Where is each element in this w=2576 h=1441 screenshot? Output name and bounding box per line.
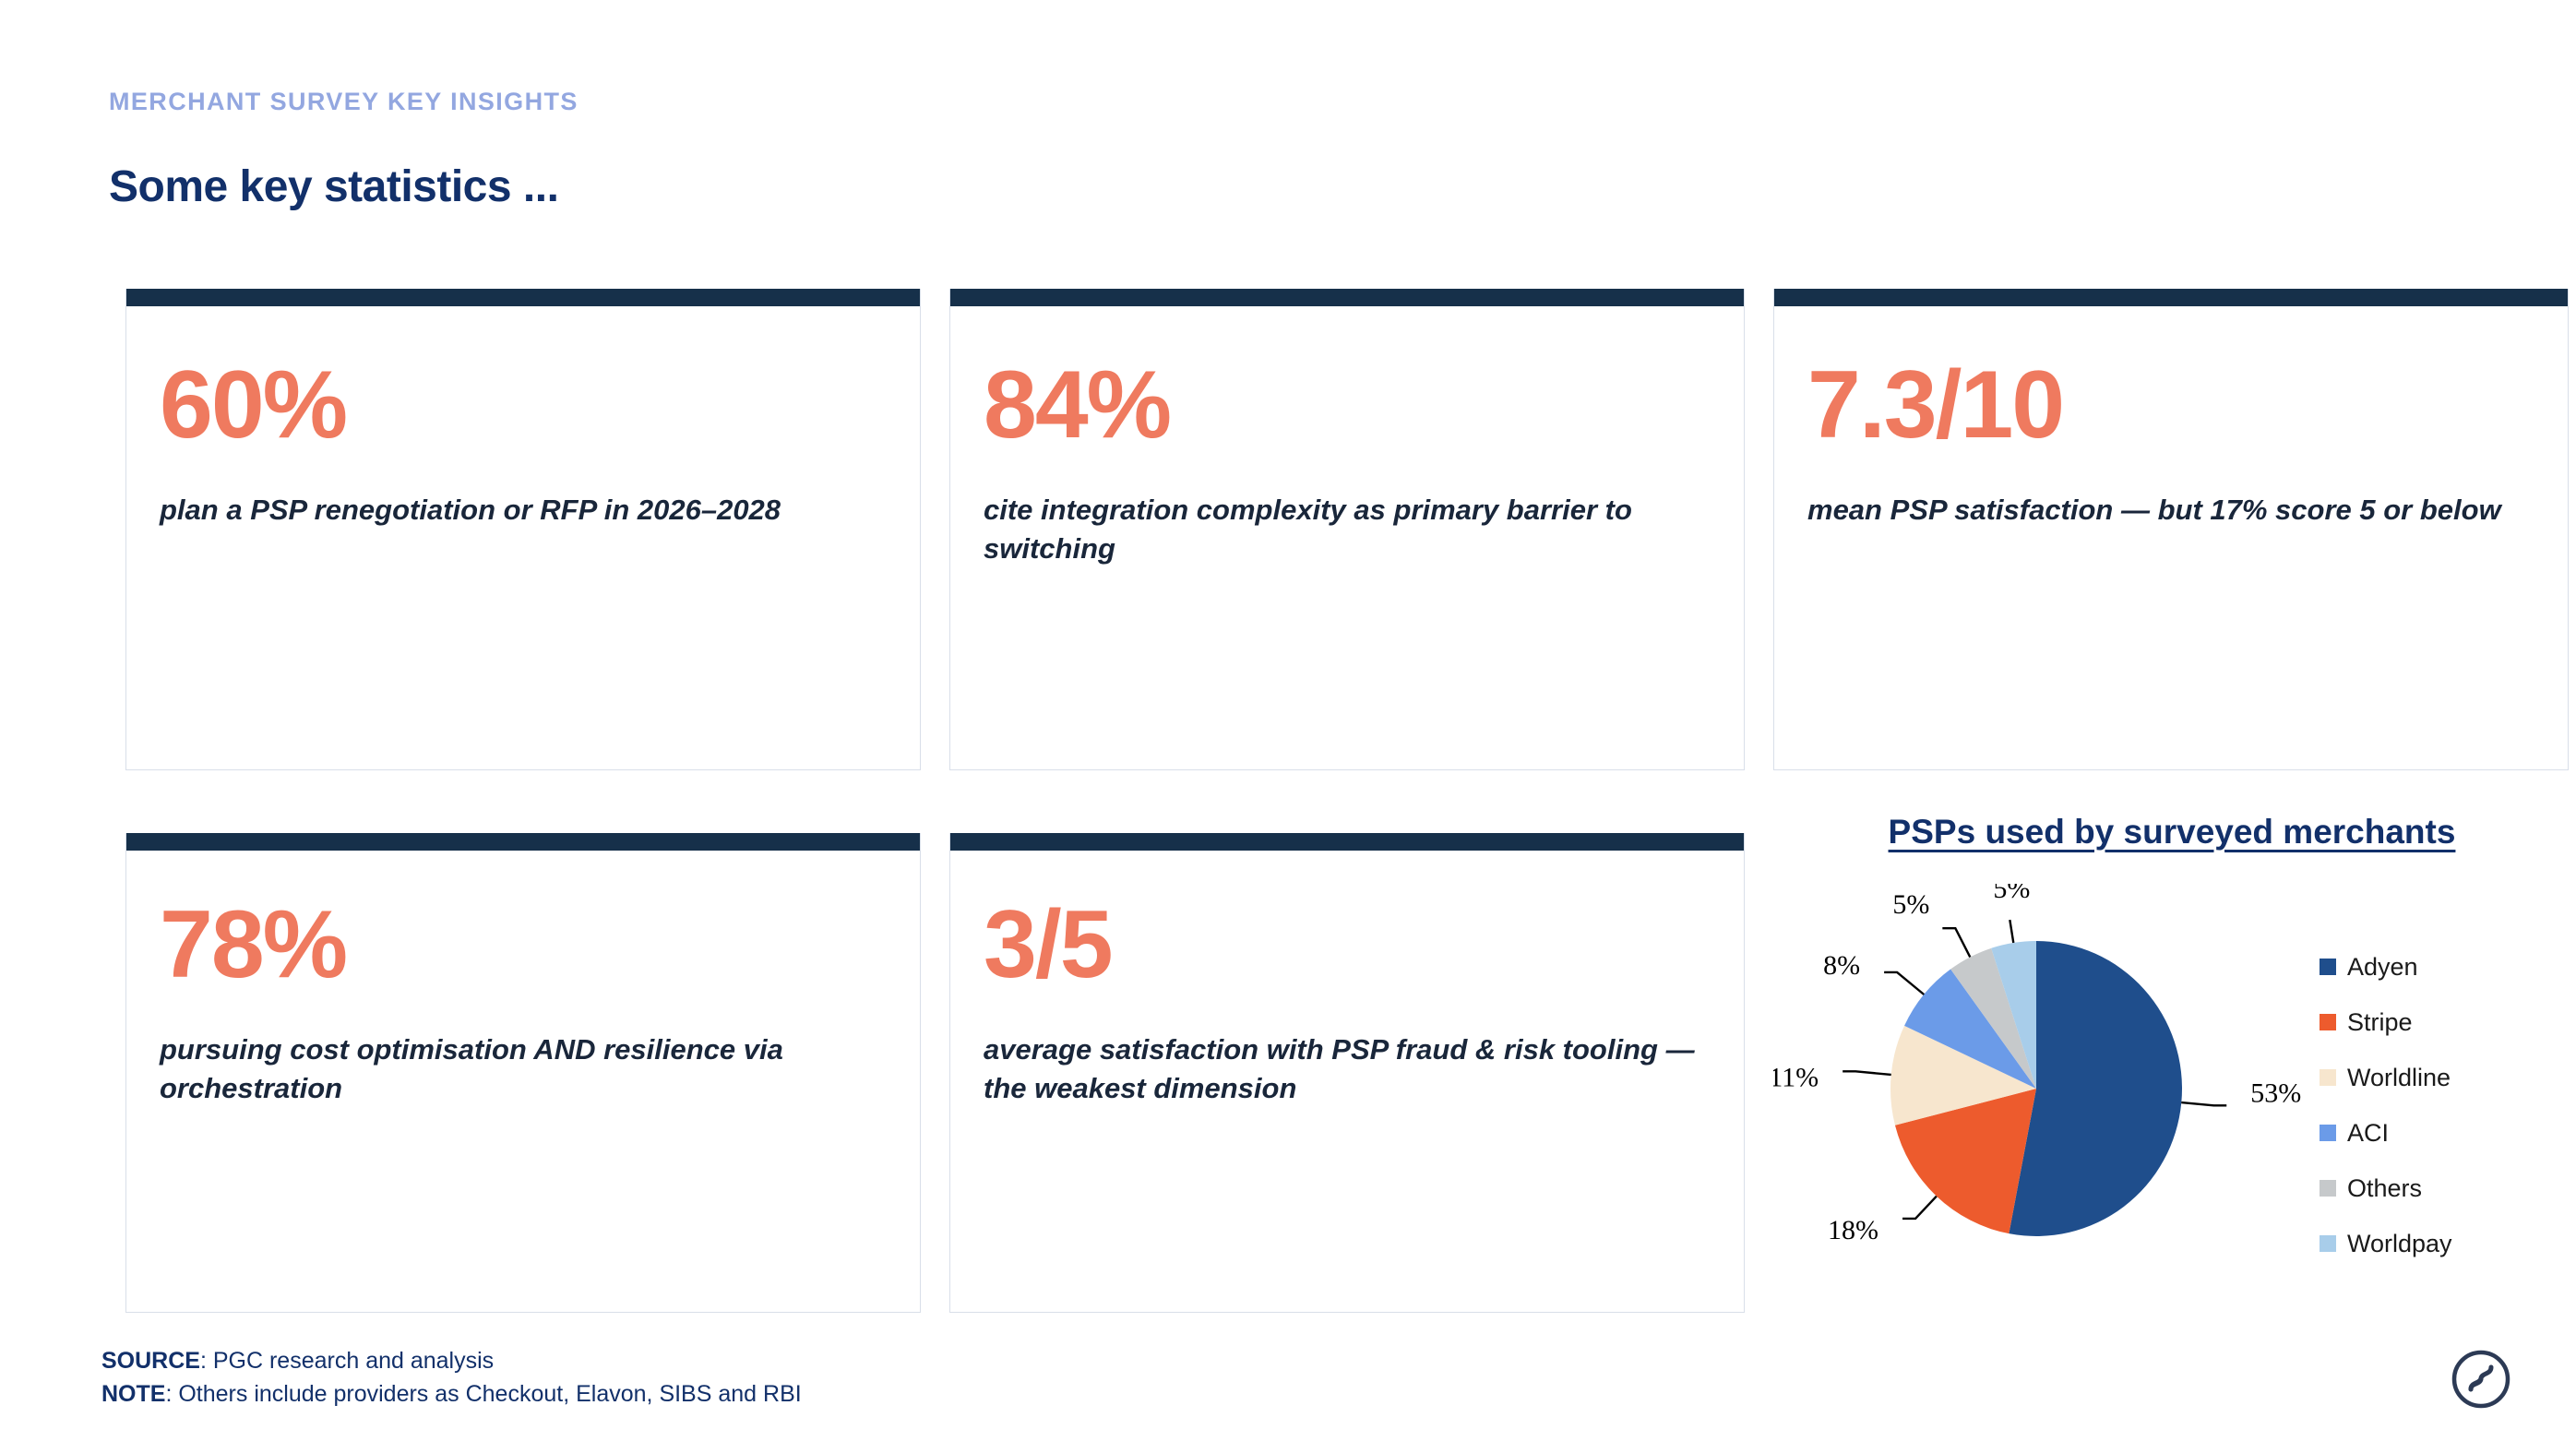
psp-pie-chart: PSPs used by surveyed merchants 53%18%11… — [1773, 833, 2569, 1313]
stat-card[interactable]: 84% cite integration complexity as prima… — [949, 289, 1745, 770]
leader-line — [2181, 1102, 2226, 1105]
stat-card-grid: 60% plan a PSP renegotiation or RFP in 2… — [125, 289, 2539, 1313]
chart-plot-area: 53%18%11%8%5%5% AdyenStripeWorldlineACIO… — [1773, 884, 2569, 1271]
stat-number: 60% — [160, 357, 346, 453]
stat-caption: plan a PSP renegotiation or RFP in 2026–… — [160, 491, 892, 530]
card-body: 3/5 average satisfaction with PSP fraud … — [950, 851, 1744, 1312]
card-body: 60% plan a PSP renegotiation or RFP in 2… — [126, 306, 920, 769]
card-top-bar — [950, 833, 1744, 851]
chart-legend: AdyenStripeWorldlineACIOthersWorldpay — [2320, 939, 2452, 1271]
pie-label-worldline: 11% — [1773, 1062, 1819, 1092]
pie-slices — [1890, 941, 2182, 1236]
card-body: 7.3/10 mean PSP satisfaction — but 17% s… — [1774, 306, 2568, 769]
stat-number: 3/5 — [984, 897, 1112, 993]
source-line: SOURCE: PGC research and analysis — [101, 1345, 802, 1378]
stat-card[interactable]: 78% pursuing cost optimisation AND resil… — [125, 833, 921, 1313]
legend-item-adyen[interactable]: Adyen — [2320, 939, 2452, 994]
legend-swatch-icon — [2320, 1069, 2336, 1086]
note-label: NOTE — [101, 1381, 165, 1407]
leader-line — [2010, 920, 2013, 943]
card-top-bar — [950, 289, 1744, 306]
source-label: SOURCE — [101, 1348, 200, 1374]
legend-swatch-icon — [2320, 959, 2336, 975]
legend-item-aci[interactable]: ACI — [2320, 1105, 2452, 1161]
leader-line — [1942, 928, 1970, 957]
leader-line — [1884, 972, 1924, 994]
card-top-bar — [1774, 289, 2568, 306]
card-body: 84% cite integration complexity as prima… — [950, 306, 1744, 769]
card-top-bar — [126, 289, 920, 306]
eyebrow-label: MERCHANT SURVEY KEY INSIGHTS — [109, 88, 578, 116]
pie-label-worldpay: 5% — [1993, 884, 2030, 904]
pie-svg: 53%18%11%8%5%5% — [1773, 884, 2327, 1271]
stat-card[interactable]: 7.3/10 mean PSP satisfaction — but 17% s… — [1773, 289, 2569, 770]
legend-swatch-icon — [2320, 1125, 2336, 1141]
company-logo-icon — [2447, 1345, 2515, 1413]
stat-number: 84% — [984, 357, 1170, 453]
stat-card[interactable]: 60% plan a PSP renegotiation or RFP in 2… — [125, 289, 921, 770]
legend-label: Stripe — [2347, 1008, 2413, 1037]
pie-label-adyen: 53% — [2250, 1078, 2301, 1108]
stat-caption: pursuing cost optimisation AND resilienc… — [160, 1030, 892, 1108]
legend-item-others[interactable]: Others — [2320, 1161, 2452, 1216]
stat-card-cell: 7.3/10 mean PSP satisfaction — but 17% s… — [1773, 289, 2569, 770]
leader-line — [1843, 1071, 1891, 1075]
legend-swatch-icon — [2320, 1014, 2336, 1030]
card-body: 78% pursuing cost optimisation AND resil… — [126, 851, 920, 1312]
note-line: NOTE: Others include providers as Checko… — [101, 1378, 802, 1411]
legend-label: Worldline — [2347, 1064, 2451, 1092]
pie-label-aci: 8% — [1823, 950, 1860, 981]
legend-label: Others — [2347, 1174, 2422, 1203]
legend-label: Adyen — [2347, 953, 2418, 982]
stat-number: 78% — [160, 897, 346, 993]
pie-label-stripe: 18% — [1828, 1215, 1878, 1245]
chart-title: PSPs used by surveyed merchants — [1784, 813, 2559, 851]
card-top-bar — [126, 833, 920, 851]
legend-item-stripe[interactable]: Stripe — [2320, 994, 2452, 1050]
stat-card-row-2: 78% pursuing cost optimisation AND resil… — [125, 833, 2539, 1313]
stat-number: 7.3/10 — [1807, 357, 2063, 453]
legend-swatch-icon — [2320, 1235, 2336, 1252]
note-text: : Others include providers as Checkout, … — [165, 1381, 801, 1407]
legend-item-worldline[interactable]: Worldline — [2320, 1050, 2452, 1105]
legend-label: Worldpay — [2347, 1230, 2452, 1258]
stat-caption: mean PSP satisfaction — but 17% score 5 … — [1807, 491, 2540, 530]
source-text: : PGC research and analysis — [200, 1348, 494, 1374]
stat-card-cell: 78% pursuing cost optimisation AND resil… — [125, 833, 921, 1313]
stat-card-cell: 84% cite integration complexity as prima… — [949, 289, 1745, 770]
legend-swatch-icon — [2320, 1180, 2336, 1197]
legend-label: ACI — [2347, 1119, 2389, 1148]
stat-caption: cite integration complexity as primary b… — [984, 491, 1716, 568]
stat-card-cell: 3/5 average satisfaction with PSP fraud … — [949, 833, 1745, 1313]
footer-notes: SOURCE: PGC research and analysis NOTE: … — [101, 1345, 802, 1411]
stat-caption: average satisfaction with PSP fraud & ri… — [984, 1030, 1716, 1108]
legend-item-worldpay[interactable]: Worldpay — [2320, 1216, 2452, 1271]
leader-line — [1902, 1197, 1937, 1219]
pie-label-others: 5% — [1892, 889, 1929, 920]
stat-card-row-1: 60% plan a PSP renegotiation or RFP in 2… — [125, 289, 2539, 770]
page-title: Some key statistics ... — [109, 161, 558, 212]
stat-card-cell: 60% plan a PSP renegotiation or RFP in 2… — [125, 289, 921, 770]
stat-card[interactable]: 3/5 average satisfaction with PSP fraud … — [949, 833, 1745, 1313]
